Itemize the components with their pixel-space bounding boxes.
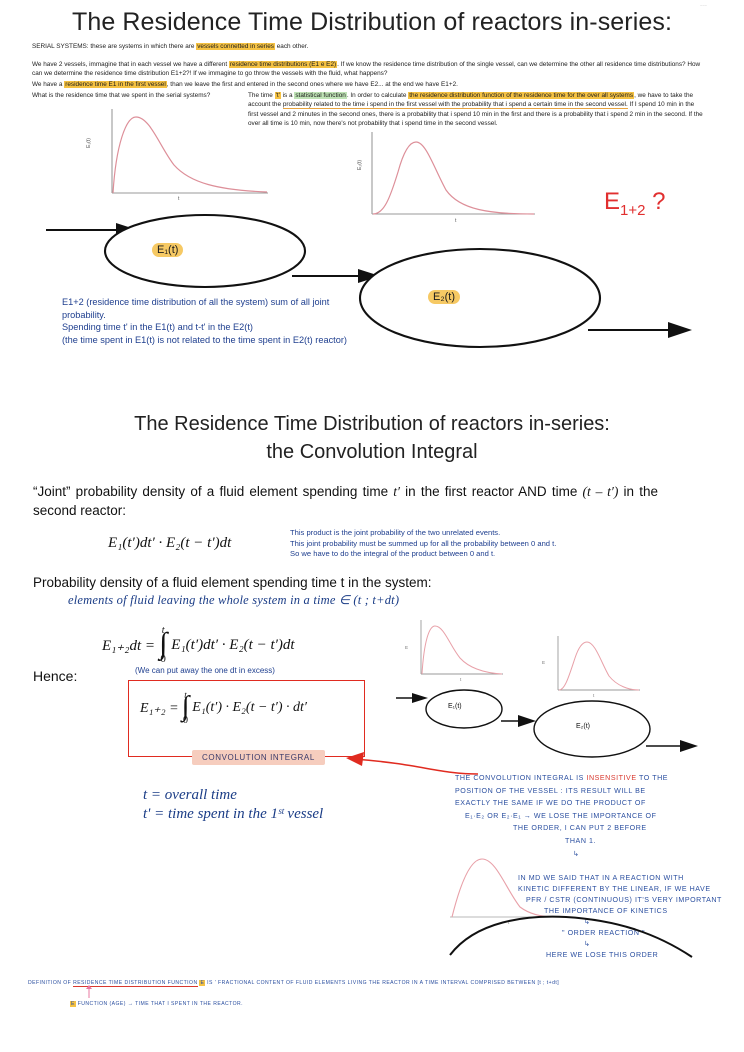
probability-density-paragraph: Probability density of a fluid element s… xyxy=(33,573,553,592)
formula-box-lhs: E₁₊₂ = xyxy=(140,690,179,726)
footer-l1-a: DEFINITION OF xyxy=(28,980,73,986)
joint-t-prime: t′ xyxy=(393,484,400,499)
plot1-ylabel-text: E₁(t) xyxy=(86,138,92,148)
plot1-xlabel-text: t xyxy=(178,196,179,202)
sidenote-line2: This joint probability must be summed up… xyxy=(290,539,700,550)
formula-main-integral: E₁₊₂dt = t ∫ 0 E₁(t′)dt′ · E₂(t − t′)dt xyxy=(102,625,295,665)
p5-underline: probability related to the time i spend … xyxy=(283,101,628,109)
e1plus2-subscript: 1+2 xyxy=(620,202,645,219)
handwritten-t-definitions: t = overall time t' = time spent in the … xyxy=(143,786,323,824)
p5-highlight-yellow: the residence distribution function of t… xyxy=(408,92,634,99)
p5-text-c: . In order to calculate xyxy=(347,92,408,99)
sidenote-line3: So we have to do the integral of the pro… xyxy=(290,549,700,560)
plot-e1-distribution xyxy=(78,105,273,210)
p3-text-b: , than we leave the first and entered in… xyxy=(167,81,458,88)
slide2-title: The Residence Time Distribution of react… xyxy=(0,410,744,466)
reactor1-label: E₁(t) xyxy=(152,243,183,257)
plot-e1-small-ylabel: E xyxy=(405,645,408,650)
plot2-y-axis-label: E₂(t) xyxy=(357,160,363,170)
hand-right-line-1: POSITION OF THE VESSEL : ITS RESULT WILL… xyxy=(455,785,740,798)
reactor1-label-small: E₁(t) xyxy=(448,703,462,710)
e1plus2-symbol: E xyxy=(604,188,620,215)
footer-l2-b: FUNCTION (AGE) → TIME THAT I SPENT IN TH… xyxy=(76,1001,243,1007)
plot-e1-small xyxy=(408,618,506,684)
p3-highlight: residence time E1 in the first vessel xyxy=(64,81,167,88)
formula-main-rhs: E₁(t′)dt′ · E₂(t − t′)dt xyxy=(171,625,294,665)
handwritten-elements-of-fluid-note: elements of fluid leaving the whole syst… xyxy=(68,592,399,608)
hand-right-seg-a: THE CONVOLUTION INTEGRAL IS xyxy=(455,774,586,782)
reactor2-label: E₂(t) xyxy=(428,290,460,304)
reactor-series-diagram-bottom xyxy=(396,684,744,769)
hand-right-seg-c: TO THE xyxy=(637,774,668,782)
e1plus2-question: E1+2 ? xyxy=(604,188,666,219)
plot1-y-axis-label: E₁(t) xyxy=(86,138,92,148)
slide2-title-line2: the Convolution Integral xyxy=(0,438,744,466)
integral-sign-box: t ∫ 0 xyxy=(179,690,193,726)
hand-right-line-0: THE CONVOLUTION INTEGRAL IS INSENSITIVE … xyxy=(455,772,740,785)
joint-text-a: “Joint” probability density of a fluid e… xyxy=(33,484,393,499)
p5-highlight-green: statistical function xyxy=(294,92,346,99)
plot2-ylabel-text: E₂(t) xyxy=(357,160,363,170)
paragraph-statistical-function: The time 't' is a statistical function. … xyxy=(248,91,706,129)
p3-text-a: We have a xyxy=(32,81,64,88)
hand-right-line-4: THE ORDER, I CAN PUT 2 BEFORE xyxy=(455,822,740,835)
formula-main-lhs: E₁₊₂dt = xyxy=(102,625,155,665)
question-mark: ? xyxy=(652,188,665,215)
sidenote-joint-probability: This product is the joint probability of… xyxy=(290,528,700,560)
hand-right-line-3: E₁·E₂ OR E₂·E₁ → WE LOSE THE IMPORTANCE … xyxy=(455,810,740,823)
formula-joint-product: E₁(t′)dt′ · E₂(t − t′)dt xyxy=(108,535,231,552)
plot-e1-small-xlabel: t xyxy=(460,677,461,682)
plot-e2-small-ylabel: E xyxy=(542,660,545,665)
p1-text-a: SERIAL SYSTEMS: these are systems in whi… xyxy=(32,43,196,50)
footer-definition-line1: DEFINITION OF RESIDENCE TIME DISTRIBUTIO… xyxy=(28,979,728,988)
hence-label: Hence: xyxy=(33,668,77,684)
slide1-title: The Residence Time Distribution of react… xyxy=(0,8,744,37)
footer-definition-line2: E FUNCTION (AGE) → TIME THAT I SPENT IN … xyxy=(70,1000,470,1009)
plot-bottom-small xyxy=(448,845,558,925)
bottom-reactor-arc xyxy=(446,915,696,965)
reactor2-label-small: E₂(t) xyxy=(576,723,590,730)
plot1-x-axis-label: t xyxy=(178,196,179,202)
joint-t-minus-tprime: (t – t′) xyxy=(583,484,619,499)
p4-text: What is the residence time that we spent… xyxy=(32,92,210,99)
p2-text-a: We have 2 vessels, immagine that in each… xyxy=(32,61,229,68)
formula-box-rhs: E₁(t′) · E₂(t − t′) · dt′ xyxy=(192,690,307,726)
integral-sign-main: t ∫ 0 xyxy=(155,625,171,665)
paragraph-residence-e1: We have a residence time E1 in the first… xyxy=(32,80,712,89)
footer-l1-b: IS ' FRACTIONAL CONTENT OF FLUID ELEMENT… xyxy=(205,980,559,986)
convolution-integral-badge: CONVOLUTION INTEGRAL xyxy=(192,750,325,765)
joint-probability-paragraph: “Joint” probability density of a fluid e… xyxy=(33,482,658,520)
hand-def-line2: t' = time spent in the 1ˢᵗ vessel xyxy=(143,805,323,824)
paragraph-two-vessels: We have 2 vessels, immagine that in each… xyxy=(32,60,712,79)
paren-note-dt-excess: (We can put away the one dt in excess) xyxy=(135,666,275,675)
p5-text-a: The time xyxy=(248,92,275,99)
sidenote-line1: This product is the joint probability of… xyxy=(290,528,700,539)
p2-highlight: residence time distributions (E1 e E2) xyxy=(229,61,337,68)
blue-annotation-note: E1+2 (residence time distribution of all… xyxy=(62,296,362,346)
hand-right-seg-insensitive: INSENSITIVE xyxy=(586,774,636,782)
paragraph-question-serial: What is the residence time that we spent… xyxy=(32,91,242,100)
paragraph-serial-systems: SERIAL SYSTEMS: these are systems in whi… xyxy=(32,42,672,51)
formula-convolution: E₁₊₂ = t ∫ 0 E₁(t′) · E₂(t − t′) · dt′ xyxy=(140,690,307,726)
p1-highlight: vessels connetted in series xyxy=(196,43,275,50)
hand-right-line-2: EXACTLY THE SAME IF WE DO THE PRODUCT OF xyxy=(455,797,740,810)
hand-def-line1: t = overall time xyxy=(143,786,323,805)
p5-text-b: is a xyxy=(281,92,295,99)
slide2-title-line1: The Residence Time Distribution of react… xyxy=(0,410,744,438)
p1-text-b: each other. xyxy=(275,43,308,50)
joint-text-b: in the first reactor AND time xyxy=(400,484,583,499)
